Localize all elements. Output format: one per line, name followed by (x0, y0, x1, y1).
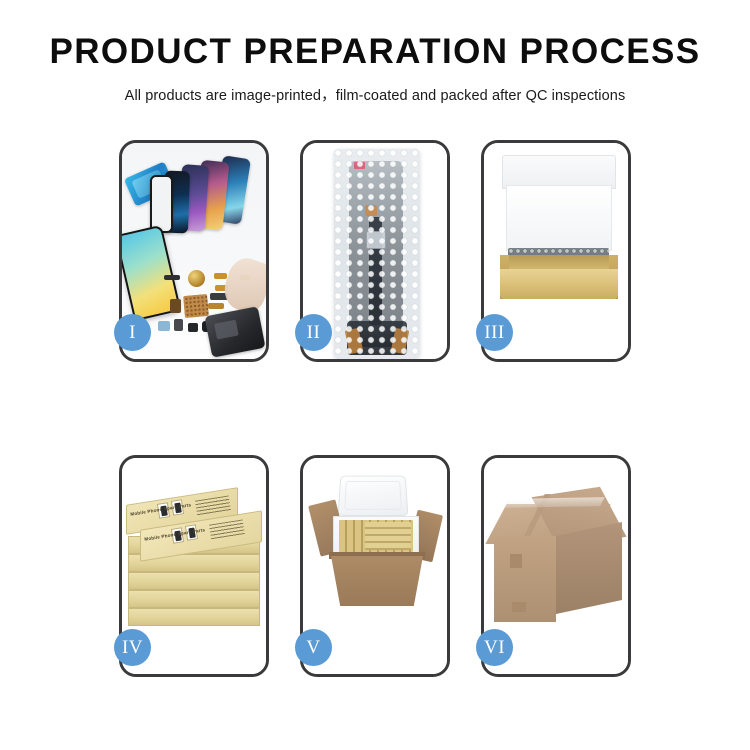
page-title: PRODUCT PREPARATION PROCESS (0, 34, 750, 71)
process-step-card-2[interactable]: II (300, 140, 450, 362)
spare-part-icon (164, 275, 180, 280)
carton-marking-icon (510, 554, 522, 568)
foam-pad-icon (506, 185, 612, 251)
page-subtitle: All products are image-printed，film-coat… (0, 84, 750, 105)
kraft-box-icon (128, 608, 260, 626)
hand-icon (219, 254, 266, 316)
kraft-box-icon (128, 572, 260, 590)
spare-part-icon (158, 321, 170, 331)
chip-grid-icon (183, 294, 209, 318)
process-step-card-3[interactable]: III (481, 140, 631, 362)
spare-part-icon (174, 319, 183, 331)
step-badge-2: II (295, 314, 332, 351)
phone-glass-icon (150, 175, 173, 233)
packing-tape-icon (503, 497, 605, 508)
bubble-overlay-icon (334, 149, 420, 359)
step-badge-3: III (476, 314, 513, 351)
box-lid-icon (502, 155, 616, 189)
phone-backplate-icon (204, 306, 265, 358)
process-step-card-4[interactable]: Mobile Phone Spare Parts Mobile Phone Sp… (119, 455, 269, 677)
carton-body-icon (331, 556, 423, 606)
spare-part-icon (214, 273, 227, 279)
step-badge-1: I (114, 314, 151, 351)
foam-lid-icon (338, 476, 409, 516)
carton-marking-icon (512, 602, 526, 612)
carton-side-icon (556, 522, 622, 614)
step-badge-6: VI (476, 629, 513, 666)
speaker-coil-icon (188, 270, 205, 287)
process-step-card-1[interactable]: I (119, 140, 269, 362)
process-step-card-5[interactable]: V (300, 455, 450, 677)
step-badge-5: V (295, 629, 332, 666)
spare-part-icon (208, 303, 224, 309)
spare-part-icon (188, 323, 198, 332)
page-header: PRODUCT PREPARATION PROCESS All products… (0, 0, 750, 105)
process-step-card-6[interactable]: VI (481, 455, 631, 677)
kraft-tray-icon (500, 269, 618, 299)
spare-part-icon (170, 299, 181, 313)
packed-boxes-icon (365, 522, 411, 550)
step-badge-4: IV (114, 629, 151, 666)
kraft-box-icon (128, 590, 260, 608)
process-steps-grid: I II III (0, 140, 750, 677)
